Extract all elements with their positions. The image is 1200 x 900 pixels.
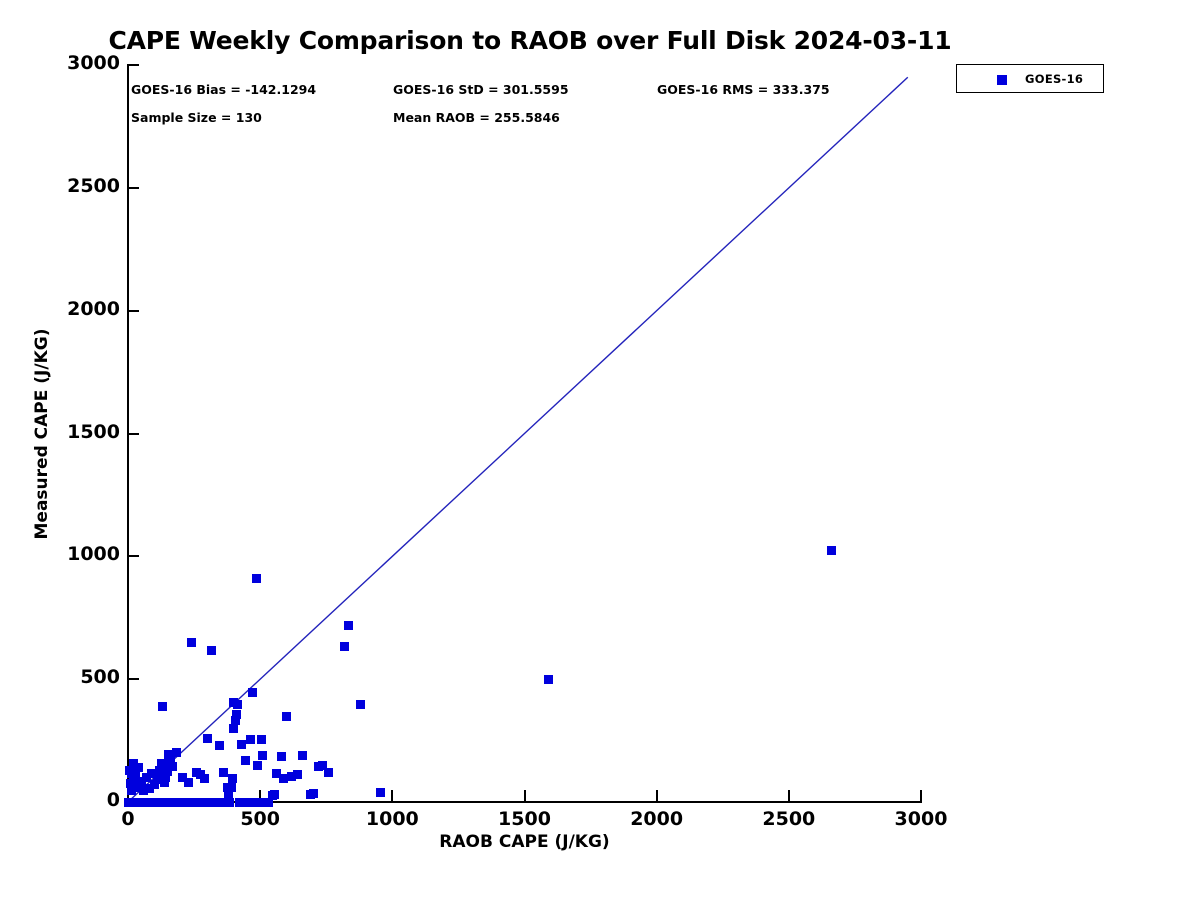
data-point (258, 751, 267, 760)
page-title: CAPE Weekly Comparison to RAOB over Full… (0, 26, 1060, 55)
data-point (277, 752, 286, 761)
y-axis-label: Measured CAPE (J/KG) (32, 134, 52, 734)
data-point (376, 788, 385, 797)
data-point (279, 774, 288, 783)
y-tick-label-1500: 1500 (67, 421, 120, 443)
data-point (126, 779, 135, 788)
x-tick-label-2000: 2000 (630, 808, 683, 830)
data-point (125, 766, 134, 775)
legend-label: GOES-16 (1025, 72, 1083, 86)
data-point (203, 734, 212, 743)
data-point (246, 735, 255, 744)
x-tick-label-1500: 1500 (498, 808, 551, 830)
data-point (215, 741, 224, 750)
legend[interactable]: GOES-16 (956, 64, 1104, 93)
data-point (124, 798, 133, 807)
x-axis-label: RAOB CAPE (J/KG) (128, 832, 921, 852)
data-point (282, 712, 291, 721)
data-point (306, 790, 315, 799)
data-point (272, 769, 281, 778)
data-point (178, 773, 187, 782)
data-point (248, 688, 257, 697)
data-point (237, 740, 246, 749)
y-tick-label-1000: 1000 (67, 543, 120, 565)
data-point (223, 783, 232, 792)
data-point (187, 638, 196, 647)
data-point (257, 735, 266, 744)
data-point (827, 546, 836, 555)
data-point (207, 646, 216, 655)
data-point (314, 762, 323, 771)
y-tick-label-500: 500 (80, 666, 120, 688)
data-point (192, 768, 201, 777)
x-tick-label-1000: 1000 (366, 808, 419, 830)
y-tick-label-2000: 2000 (67, 298, 120, 320)
cape-scatter-chart: CAPE Weekly Comparison to RAOB over Full… (0, 0, 1200, 900)
data-point (356, 700, 365, 709)
data-point (544, 675, 553, 684)
y-tick-label-3000: 3000 (67, 52, 120, 74)
x-tick-label-3000: 3000 (895, 808, 948, 830)
data-point (229, 724, 238, 733)
plot-area (128, 65, 921, 802)
data-point (340, 642, 349, 651)
data-point (235, 798, 244, 807)
data-point (241, 756, 250, 765)
data-point (344, 621, 353, 630)
data-point (158, 702, 167, 711)
y-tick-label-2500: 2500 (67, 175, 120, 197)
y-tick-label-0: 0 (107, 789, 120, 811)
x-tick-label-2500: 2500 (762, 808, 815, 830)
x-tick-label-500: 500 (240, 808, 280, 830)
x-tick-label-0: 0 (121, 808, 134, 830)
data-point (287, 772, 296, 781)
data-point (253, 761, 262, 770)
data-point (164, 750, 173, 759)
data-point (252, 574, 261, 583)
data-point (298, 751, 307, 760)
data-point (229, 698, 238, 707)
data-point (219, 768, 228, 777)
legend-marker-icon (997, 75, 1007, 85)
